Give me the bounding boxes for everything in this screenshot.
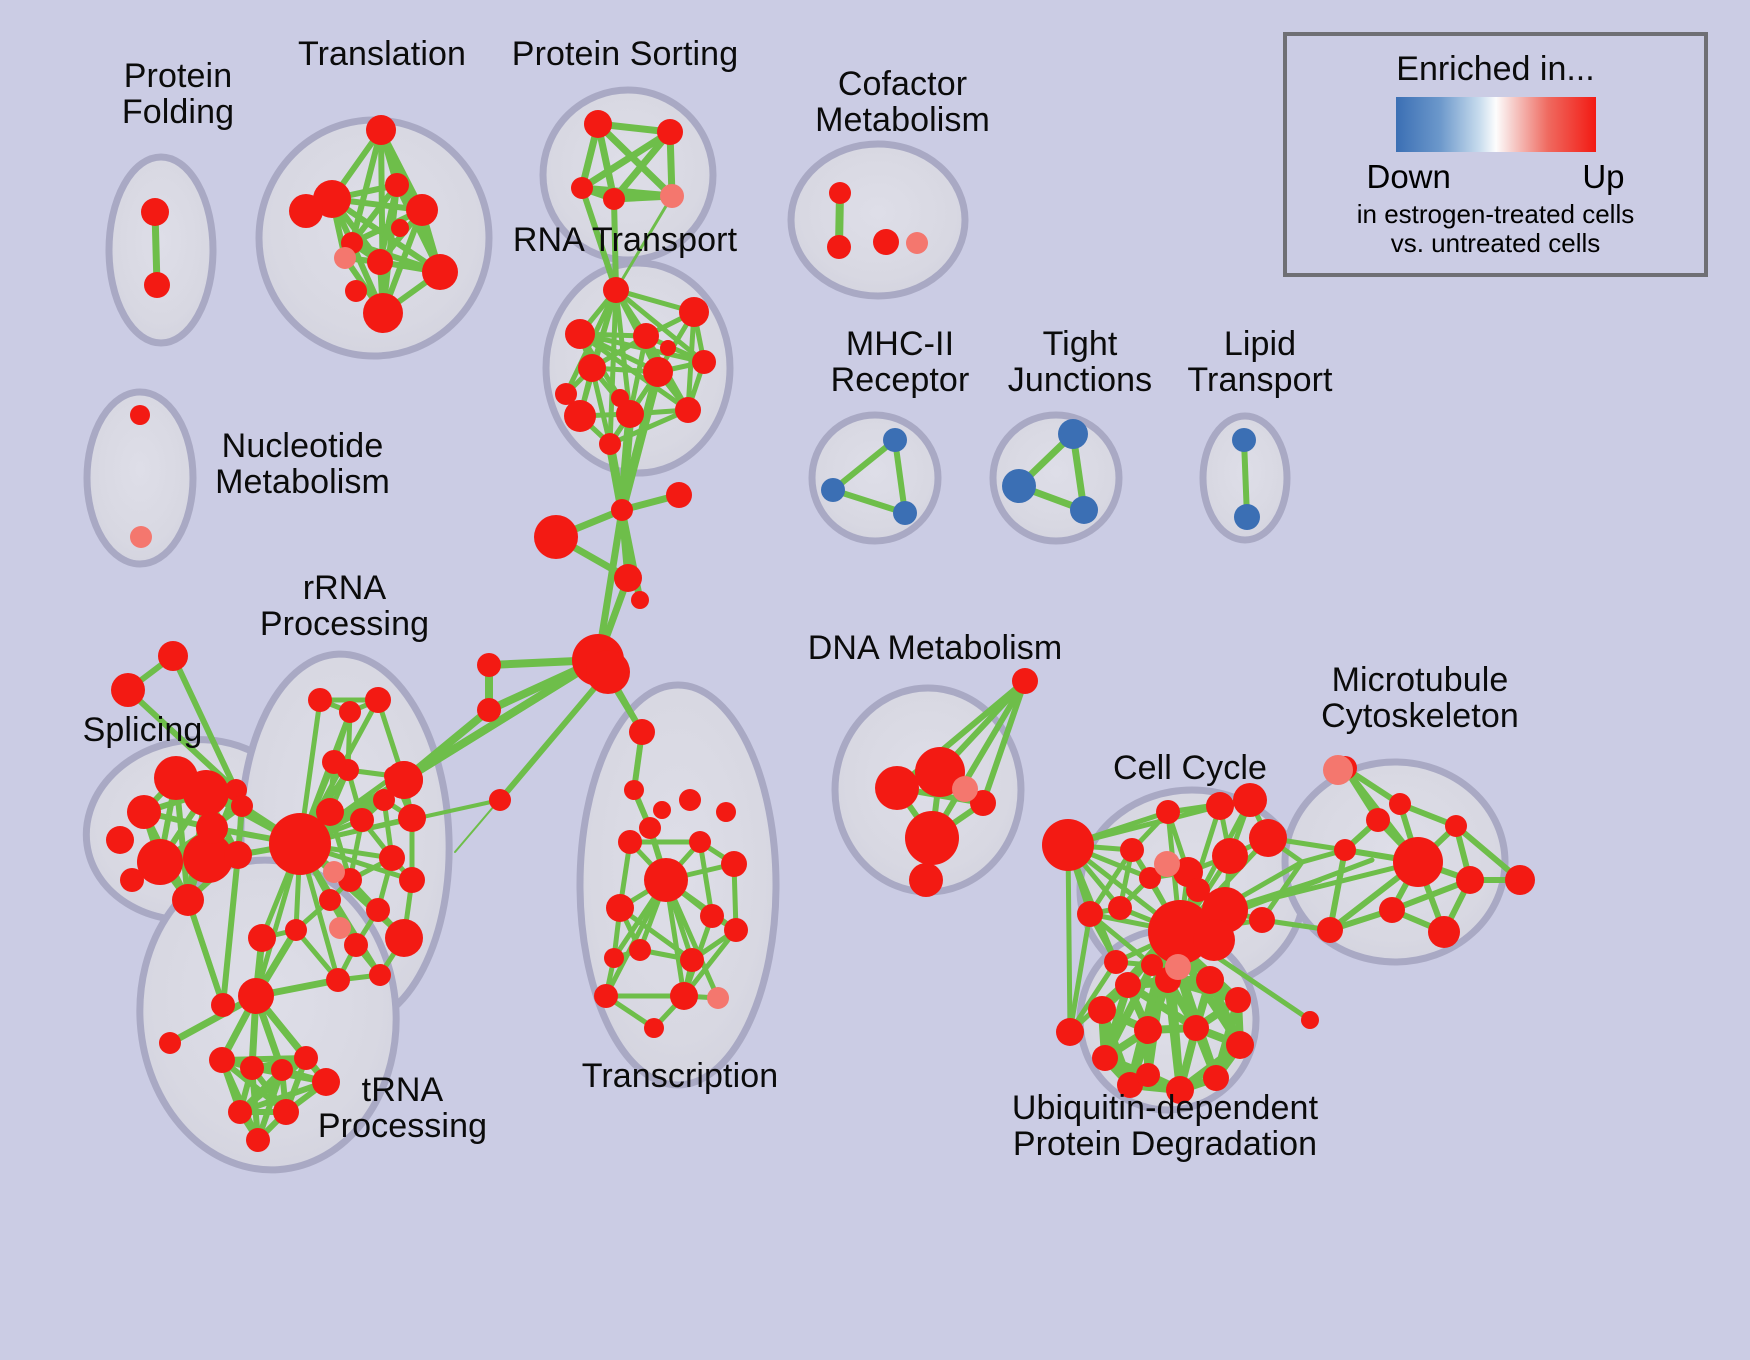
node <box>1115 972 1141 998</box>
node <box>120 868 144 892</box>
node <box>629 939 651 961</box>
node <box>224 841 252 869</box>
node <box>345 280 367 302</box>
node <box>489 789 511 811</box>
node <box>130 405 150 425</box>
node <box>680 948 704 972</box>
halo-protein-folding <box>109 157 213 343</box>
node <box>1136 1063 1160 1087</box>
node <box>1092 1045 1118 1071</box>
halo-cofactor-metabolism <box>791 144 965 296</box>
node <box>323 861 345 883</box>
node <box>196 812 228 844</box>
node <box>633 323 659 349</box>
node <box>326 968 350 992</box>
cluster-label-translation: Translation <box>282 36 482 72</box>
node <box>1134 1016 1162 1044</box>
node <box>666 482 692 508</box>
node <box>584 110 612 138</box>
node <box>1056 1018 1084 1046</box>
legend-low-label: Down <box>1367 158 1451 196</box>
node <box>644 858 688 902</box>
node <box>422 254 458 290</box>
node <box>692 350 716 374</box>
node <box>399 867 425 893</box>
node <box>1379 897 1405 923</box>
node <box>271 1059 293 1081</box>
node <box>564 400 596 432</box>
node <box>629 719 655 745</box>
node <box>1104 950 1128 974</box>
node <box>1183 1015 1209 1041</box>
node <box>369 964 391 986</box>
node <box>724 918 748 942</box>
node <box>611 389 629 407</box>
cluster-label-splicing: Splicing <box>50 712 235 748</box>
node <box>1196 966 1224 994</box>
node <box>821 478 845 502</box>
node <box>1070 496 1098 524</box>
node <box>350 808 374 832</box>
halo-mhc-ii-receptor <box>812 415 938 541</box>
legend-title: Enriched in... <box>1396 50 1594 89</box>
node <box>644 1018 664 1038</box>
node <box>344 933 368 957</box>
node <box>209 1047 235 1073</box>
node <box>1154 851 1180 877</box>
node <box>1002 469 1036 503</box>
node <box>1058 419 1088 449</box>
legend-box: Enriched in... Down Up in estrogen-treat… <box>1283 32 1708 277</box>
cluster-label-protein-folding: Protein Folding <box>78 58 278 130</box>
node <box>130 526 152 548</box>
node <box>618 830 642 854</box>
cluster-label-rna-transport: RNA Transport <box>500 222 750 258</box>
node <box>367 249 393 275</box>
cluster-label-ubiquitin: Ubiquitin-dependent Protein Degradation <box>985 1090 1345 1162</box>
node <box>127 795 161 829</box>
node <box>670 982 698 1010</box>
node <box>385 919 423 957</box>
node <box>339 701 361 723</box>
cluster-label-rrna-processing: rRNA Processing <box>242 570 447 642</box>
node <box>294 1046 318 1070</box>
node <box>334 247 356 269</box>
node <box>603 277 629 303</box>
node <box>1225 987 1251 1013</box>
cluster-label-nucleotide-metabolism: Nucleotide Metabolism <box>195 428 410 500</box>
node <box>365 687 391 713</box>
node <box>1108 896 1132 920</box>
node <box>106 826 134 854</box>
node <box>1334 839 1356 861</box>
node <box>477 653 501 677</box>
node <box>1456 866 1484 894</box>
node <box>700 904 724 928</box>
node <box>639 817 661 839</box>
node <box>141 198 169 226</box>
node <box>707 987 729 1009</box>
node <box>238 978 274 1014</box>
node <box>1193 919 1235 961</box>
legend-caption-line2: vs. untreated cells <box>1357 229 1634 258</box>
node <box>1226 1031 1254 1059</box>
node <box>675 397 701 423</box>
node <box>289 194 323 228</box>
legend-caption-line1: in estrogen-treated cells <box>1357 200 1634 229</box>
cluster-label-microtubule: Microtubule Cytoskeleton <box>1300 662 1540 734</box>
cluster-label-mhc-ii-receptor: MHC-II Receptor <box>800 326 1000 398</box>
node <box>228 1100 252 1124</box>
legend-color-gradient-bar <box>1396 97 1596 152</box>
cluster-label-tight-junctions: Tight Junctions <box>980 326 1180 398</box>
node <box>624 780 644 800</box>
node <box>1012 668 1038 694</box>
node <box>893 501 917 525</box>
node <box>611 499 633 521</box>
node <box>1042 819 1094 871</box>
node <box>159 1032 181 1054</box>
node <box>721 851 747 877</box>
node <box>406 194 438 226</box>
node <box>391 219 409 237</box>
node <box>385 761 423 799</box>
node <box>614 564 642 592</box>
node <box>366 898 390 922</box>
node <box>534 515 578 559</box>
node <box>1206 792 1234 820</box>
node <box>679 297 709 327</box>
node <box>285 919 307 941</box>
node <box>1301 1011 1319 1029</box>
node <box>631 591 649 609</box>
node <box>679 789 701 811</box>
node <box>363 293 403 333</box>
node <box>1366 808 1390 832</box>
node <box>1505 865 1535 895</box>
node <box>653 801 671 819</box>
node <box>603 188 625 210</box>
node <box>1232 428 1256 452</box>
node <box>827 235 851 259</box>
node <box>604 948 624 968</box>
node <box>477 698 501 722</box>
node <box>586 650 630 694</box>
node <box>1212 838 1248 874</box>
node <box>1156 800 1180 824</box>
node <box>555 383 577 405</box>
cluster-label-dna-metabolism: DNA Metabolism <box>805 630 1065 666</box>
node <box>689 831 711 853</box>
node <box>660 340 676 356</box>
node <box>875 766 919 810</box>
node <box>660 184 684 208</box>
node <box>1249 819 1287 857</box>
node <box>1233 783 1267 817</box>
node <box>1165 954 1191 980</box>
node <box>329 917 351 939</box>
node <box>211 993 235 1017</box>
node <box>1234 504 1260 530</box>
node <box>1077 901 1103 927</box>
cluster-label-transcription: Transcription <box>565 1058 795 1094</box>
node <box>183 770 229 816</box>
node <box>1249 907 1275 933</box>
node <box>909 863 943 897</box>
cluster-label-lipid-transport: Lipid Transport <box>1160 326 1360 398</box>
node <box>906 232 928 254</box>
node <box>905 811 959 865</box>
node <box>829 182 851 204</box>
node <box>873 229 899 255</box>
node <box>1088 996 1116 1024</box>
node <box>1393 837 1443 887</box>
node <box>1428 916 1460 948</box>
node <box>643 357 673 387</box>
node <box>240 1056 264 1080</box>
node <box>1317 917 1343 943</box>
node <box>231 795 253 817</box>
node <box>1120 838 1144 862</box>
node <box>273 1099 299 1125</box>
node <box>144 272 170 298</box>
node <box>385 173 409 197</box>
cluster-label-cofactor-metabolism: Cofactor Metabolism <box>795 66 1010 138</box>
node <box>716 802 736 822</box>
node <box>248 924 276 952</box>
node <box>246 1128 270 1152</box>
node <box>565 319 595 349</box>
node <box>398 804 426 832</box>
node <box>1445 815 1467 837</box>
cluster-label-cell-cycle: Cell Cycle <box>1095 750 1285 786</box>
legend-high-label: Up <box>1582 158 1624 196</box>
enrichment-map-figure: Protein Folding Translation Protein Sort… <box>0 0 1750 1360</box>
node <box>1203 1065 1229 1091</box>
node <box>111 673 145 707</box>
node <box>578 354 606 382</box>
cluster-label-trna-processing: tRNA Processing <box>300 1072 505 1144</box>
node <box>1323 755 1353 785</box>
node <box>883 428 907 452</box>
node <box>172 884 204 916</box>
cluster-label-protein-sorting: Protein Sorting <box>500 36 750 72</box>
node <box>1389 793 1411 815</box>
node <box>379 845 405 871</box>
node <box>269 813 331 875</box>
node <box>366 115 396 145</box>
node <box>606 894 634 922</box>
node <box>137 839 183 885</box>
node <box>319 889 341 911</box>
node <box>657 119 683 145</box>
node <box>952 776 978 802</box>
node <box>308 688 332 712</box>
node <box>599 433 621 455</box>
node <box>158 641 188 671</box>
node <box>594 984 618 1008</box>
node <box>571 177 593 199</box>
node <box>322 750 346 774</box>
